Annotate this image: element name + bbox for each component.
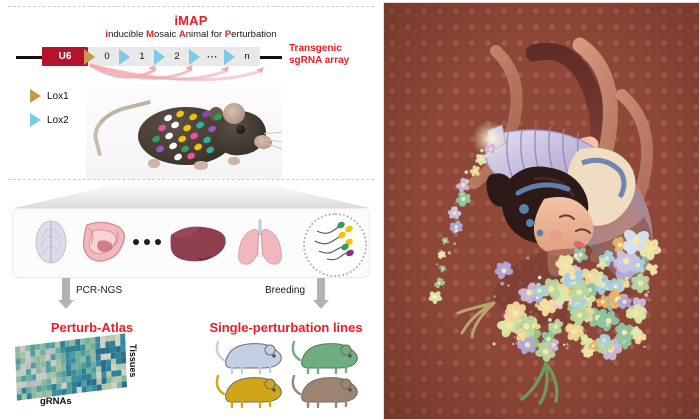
sparkle	[535, 303, 539, 307]
sparkle	[432, 295, 435, 298]
sparkle	[644, 293, 648, 297]
sparkle	[480, 154, 483, 157]
sparkle	[606, 287, 609, 290]
funnel-shape	[14, 182, 370, 208]
mouse-tail-leaves	[458, 303, 494, 337]
lox1-legend: Lox1	[30, 89, 69, 103]
transgenic-sgrna-array-label: Transgenic sgRNA array	[289, 43, 384, 67]
sparkle	[592, 276, 594, 278]
sparkle	[520, 319, 522, 321]
heatmap-x-axis-label: gRNAs	[40, 396, 72, 407]
subtitle-m: M	[146, 29, 154, 40]
subtitle-osaic: osaic	[154, 29, 179, 40]
sparkle	[606, 324, 609, 327]
pcr-ngs-arrow-head	[58, 300, 74, 309]
sparkle	[455, 229, 458, 232]
sparkle	[461, 193, 463, 195]
mouse-leg-leaves	[522, 363, 557, 403]
organ-ellipsis	[133, 239, 161, 245]
subtitle-erturbation: erturbation	[231, 29, 276, 40]
mouse-eye	[236, 125, 245, 134]
dna-wire-left	[16, 56, 44, 59]
lox2-legend: Lox2	[30, 113, 69, 127]
imap-subtitle: inducible Mosaic Animal for Perturbation	[8, 29, 374, 40]
sparkle	[548, 318, 552, 322]
sparkle	[571, 282, 574, 285]
sparkle	[596, 278, 598, 280]
sparkle	[516, 341, 520, 345]
sparkle	[625, 277, 629, 281]
trail-flower	[441, 237, 449, 245]
ellipsis-dot	[133, 239, 139, 245]
breeding-arrow-head	[313, 300, 329, 309]
sparkle	[464, 170, 468, 174]
lox1-label: Lox1	[47, 91, 69, 102]
heatmap-cell	[122, 381, 127, 388]
intestine-icon	[79, 219, 127, 265]
sparkle	[574, 303, 577, 306]
sparkle	[643, 346, 645, 348]
sparkle	[612, 306, 614, 308]
trail-flower	[469, 165, 480, 177]
sparkle	[563, 344, 565, 346]
sparkle	[530, 311, 532, 313]
liver-icon	[169, 225, 227, 263]
lung-icon	[237, 217, 283, 265]
ellipsis-dot	[155, 239, 161, 245]
mouse-paw	[228, 157, 240, 165]
brain-icon	[31, 219, 71, 265]
sparkle	[647, 291, 649, 293]
trail-flower	[439, 265, 446, 272]
mouse-paw	[194, 161, 208, 170]
mouse-whisker	[264, 131, 282, 134]
sparkle	[538, 276, 542, 280]
subtitle-nimal: nimal for	[186, 29, 225, 40]
sparkle	[574, 253, 578, 257]
sparkle	[443, 281, 445, 283]
trail-flower	[433, 277, 445, 289]
perturb-atlas-heatmap: Tissues gRNAs	[16, 340, 136, 398]
sparkle	[614, 298, 617, 301]
sparkle	[613, 346, 615, 348]
schematic-panel: iMAP inducible Mosaic Animal for Perturb…	[0, 0, 380, 420]
breeding-label: Breeding	[265, 285, 305, 296]
perturb-atlas-title: Perturb-Atlas	[12, 320, 172, 335]
sparkle	[507, 284, 509, 286]
lox2-triangle-icon	[30, 113, 41, 127]
sperm-cells	[305, 215, 361, 271]
lox2-label: Lox2	[47, 115, 69, 126]
mouse-line-blue	[212, 338, 286, 374]
heatmap-grid	[15, 333, 127, 400]
sparkle	[576, 257, 580, 261]
lox1-triangle-icon	[30, 89, 41, 103]
pcr-ngs-label: PCR-NGS	[76, 285, 122, 296]
ellipsis-dot	[144, 239, 150, 245]
pcr-ngs-arrow-shaft	[62, 278, 70, 302]
mouse-paw	[148, 159, 160, 168]
mosaic-mouse-photo	[86, 81, 282, 179]
mouse-line-gold	[212, 372, 286, 408]
subtitle-a: A	[179, 29, 186, 40]
sparkle	[512, 343, 514, 345]
sperm-icon	[303, 213, 367, 277]
mouse-ear	[223, 103, 245, 124]
mouse-line-green	[288, 338, 362, 374]
sparkle	[566, 343, 568, 345]
sparkle	[599, 277, 601, 279]
sparkle	[500, 282, 504, 286]
transgenic-line2: sgRNA array	[289, 55, 384, 67]
sparkle	[448, 251, 451, 254]
sparkle	[493, 295, 496, 298]
trail-flower	[437, 251, 446, 260]
single-perturbation-lines-title: Single-perturbation lines	[196, 320, 376, 335]
subtitle-nducible: nducible	[108, 29, 146, 40]
artwork-panel	[383, 2, 700, 420]
sparkle	[649, 300, 651, 302]
figure-root: iMAP inducible Mosaic Animal for Perturb…	[0, 0, 700, 420]
sparkle	[596, 350, 598, 352]
sparkle	[466, 180, 469, 183]
breeding-arrow-shaft	[317, 278, 325, 302]
flying-figure-illustration	[384, 3, 699, 419]
organ-panel	[12, 208, 370, 278]
sparkle	[526, 256, 529, 259]
sparkle	[436, 264, 438, 266]
sparkle	[480, 149, 483, 152]
sparkle	[574, 282, 576, 284]
transgenic-line1: Transgenic	[289, 43, 384, 55]
sparkle	[514, 336, 516, 338]
sparkle	[453, 242, 456, 245]
sparkle	[619, 261, 621, 263]
sparkle	[566, 348, 568, 350]
heatmap-y-axis-label: Tissues	[128, 344, 138, 377]
sparkle	[534, 317, 536, 319]
mouse-line-brown	[288, 372, 362, 408]
sparkle	[493, 342, 496, 345]
construct-section: iMAP inducible Mosaic Animal for Perturb…	[8, 6, 374, 180]
sparkle	[454, 207, 456, 209]
trail-flower	[455, 191, 472, 207]
imap-title: iMAP	[8, 13, 374, 28]
sparkle	[526, 327, 529, 330]
sparkle	[614, 286, 616, 288]
